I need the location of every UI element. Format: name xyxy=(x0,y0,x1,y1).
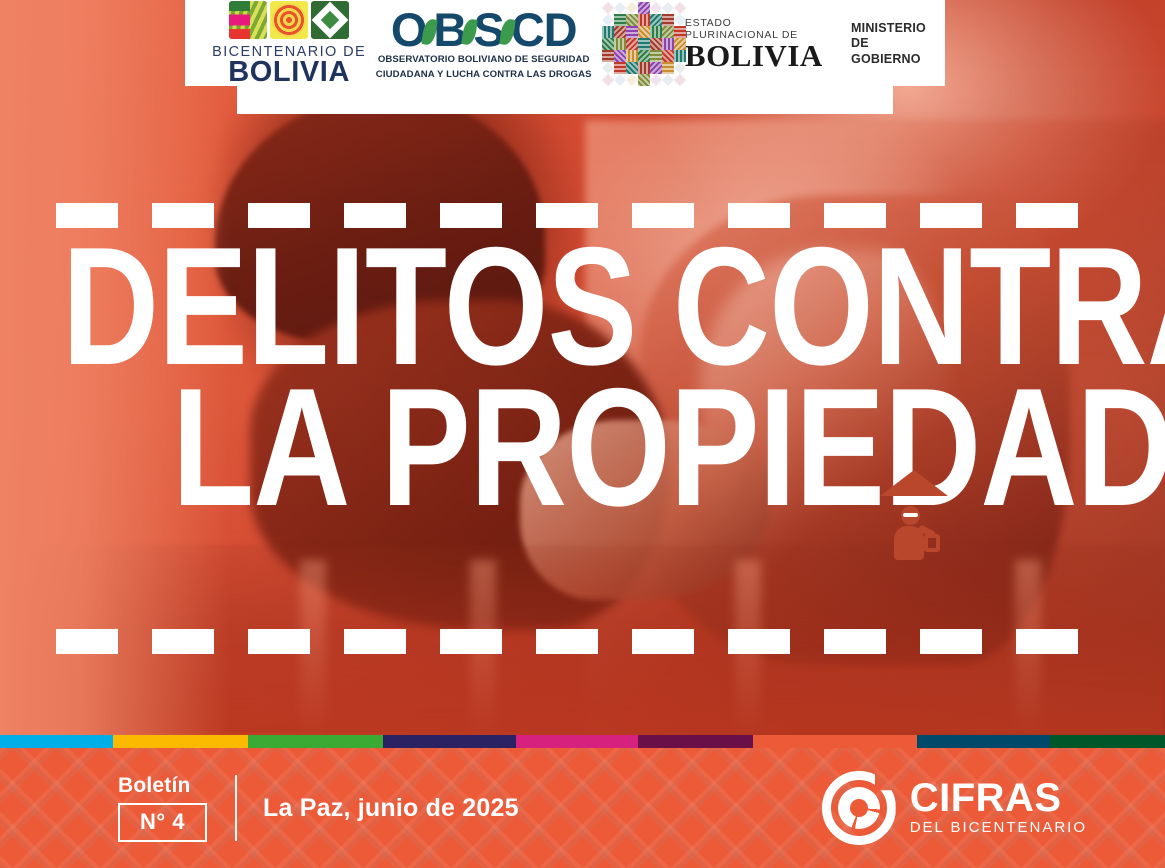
emblem-corner-diamond xyxy=(662,74,674,86)
wiphala-mosaic-icon xyxy=(602,2,676,86)
emblem-tile xyxy=(638,74,650,86)
emblem-tile xyxy=(662,38,674,50)
emblem-corner-diamond xyxy=(614,2,626,14)
emblem-tile xyxy=(662,14,674,26)
tile-spiral-icon xyxy=(270,1,308,39)
emblem-tile xyxy=(662,26,674,38)
emblem-tile xyxy=(614,26,626,38)
emblem-tile xyxy=(650,14,662,26)
color-strip-segment-green xyxy=(248,735,383,748)
emblem-tile xyxy=(602,50,614,62)
place-and-date: La Paz, junio de 2025 xyxy=(263,794,519,823)
footer-bar: Boletín N° 4 La Paz, junio de 2025 CIFRA… xyxy=(0,748,1165,868)
emblem-corner-diamond xyxy=(602,14,614,26)
vertical-divider xyxy=(235,775,237,841)
bulletin-cover-page: BICENTENARIO DE BOLIVIA OBSCD OBSERVATOR… xyxy=(0,0,1165,868)
color-strip xyxy=(0,735,1165,748)
andean-tiles-icon xyxy=(229,1,349,39)
emblem-tile xyxy=(674,50,686,62)
house-burglar-icon xyxy=(880,470,948,568)
estado-text: ESTADO PLURINACIONAL DE BOLIVIA xyxy=(685,17,828,71)
logo-estado-plurinacional: ESTADO PLURINACIONAL DE BOLIVIA MINISTER… xyxy=(602,2,931,86)
color-strip-segment-cyan xyxy=(0,735,113,748)
emblem-tile xyxy=(626,62,638,74)
color-strip-segment-teal xyxy=(917,735,1050,748)
emblem-corner-diamond xyxy=(602,74,614,86)
emblem-tile xyxy=(638,14,650,26)
obscd-letter-s: S xyxy=(473,6,503,53)
emblem-tile xyxy=(650,38,662,50)
emblem-tile xyxy=(662,62,674,74)
cifras-donut-chart-icon xyxy=(822,771,896,845)
cifras-text: CIFRAS DEL BICENTENARIO xyxy=(910,780,1087,836)
emblem-corner-diamond xyxy=(662,2,674,14)
color-strip-segment-dark-green xyxy=(1050,735,1165,748)
obscd-subtitle-line1: OBSERVATORIO BOLIVIANO DE SEGURIDAD xyxy=(378,54,590,66)
burglar-bag-icon xyxy=(924,534,940,552)
emblem-corner-diamond xyxy=(602,2,614,14)
logo-header-panel: BICENTENARIO DE BOLIVIA OBSCD OBSERVATOR… xyxy=(185,0,945,114)
emblem-tile xyxy=(602,26,614,38)
obscd-letter-o: O xyxy=(391,6,427,53)
ministry-line1: MINISTERIO xyxy=(851,21,931,37)
emblem-tile xyxy=(614,50,626,62)
emblem-corner-diamond xyxy=(614,74,626,86)
color-strip-segment-yellow xyxy=(113,735,248,748)
emblem-corner-diamond xyxy=(626,74,638,86)
burglar-mask-icon xyxy=(903,513,918,517)
emblem-tile xyxy=(650,26,662,38)
emblem-tile xyxy=(614,14,626,26)
estado-line2: BOLIVIA xyxy=(685,41,828,71)
cifras-hole xyxy=(850,799,868,817)
obscd-letter-c: C xyxy=(511,6,544,53)
emblem-tile xyxy=(674,38,686,50)
hero-title: DELITOS CONTRA LA PROPIEDAD xyxy=(0,236,1165,518)
emblem-tile xyxy=(626,38,638,50)
emblem-tile xyxy=(650,62,662,74)
emblem-tile xyxy=(614,38,626,50)
color-strip-segment-magenta xyxy=(516,735,638,748)
emblem-tile xyxy=(662,50,674,62)
emblem-corner-diamond xyxy=(650,2,662,14)
footer-content: Boletín N° 4 La Paz, junio de 2025 CIFRA… xyxy=(0,748,1165,868)
bulletin-label: Boletín xyxy=(118,775,191,796)
emblem-corner-diamond xyxy=(674,2,686,14)
hero-title-line2: LA PROPIEDAD xyxy=(172,377,966,518)
cifras-name: CIFRAS xyxy=(910,780,1087,817)
emblem-corner-diamond xyxy=(674,74,686,86)
emblem-tile xyxy=(638,2,650,14)
bicentenario-line2: BOLIVIA xyxy=(228,59,350,87)
obscd-letter-b: B xyxy=(433,6,466,53)
emblem-tile xyxy=(638,62,650,74)
emblem-tile xyxy=(614,62,626,74)
cifras-logo: CIFRAS DEL BICENTENARIO xyxy=(822,771,1087,845)
ministry-text: MINISTERIO DE GOBIERNO xyxy=(851,21,931,68)
color-strip-segment-orange xyxy=(753,735,917,748)
emblem-tile xyxy=(638,38,650,50)
emblem-tile xyxy=(638,26,650,38)
tile-step-pattern-icon xyxy=(229,1,267,39)
bulletin-number: N° 4 xyxy=(118,803,207,842)
house-roof-icon xyxy=(880,470,948,496)
ministry-line2: DE GOBIERNO xyxy=(851,36,931,67)
logo-bicentenario: BICENTENARIO DE BOLIVIA xyxy=(203,1,375,87)
emblem-tile xyxy=(626,26,638,38)
tile-diamond-icon xyxy=(311,1,349,39)
emblem-tile xyxy=(626,14,638,26)
color-strip-segment-navy xyxy=(383,735,516,748)
emblem-corner-diamond xyxy=(626,2,638,14)
emblem-corner-diamond xyxy=(602,62,614,74)
obscd-subtitle-line2: CIUDADANA Y LUCHA CONTRA LAS DROGAS xyxy=(376,69,592,81)
emblem-corner-diamond xyxy=(650,74,662,86)
emblem-tile xyxy=(674,26,686,38)
emblem-tile xyxy=(626,50,638,62)
obscd-acronym: OBSCD xyxy=(391,7,577,51)
bulletin-info: Boletín N° 4 xyxy=(118,775,207,842)
emblem-tile xyxy=(650,50,662,62)
emblem-tile xyxy=(638,50,650,62)
emblem-tile xyxy=(602,38,614,50)
obscd-letter-d: D xyxy=(544,6,577,53)
dashed-rule-bottom xyxy=(56,629,1111,654)
cifras-tagline: DEL BICENTENARIO xyxy=(910,819,1087,836)
color-strip-segment-purple xyxy=(638,735,753,748)
logo-obscd: OBSCD OBSERVATORIO BOLIVIANO DE SEGURIDA… xyxy=(381,7,586,81)
